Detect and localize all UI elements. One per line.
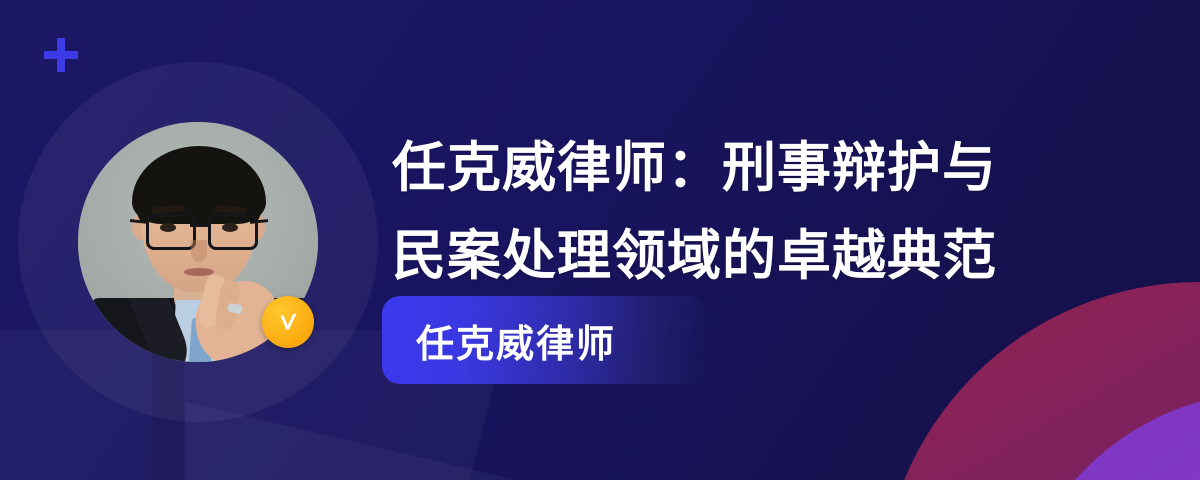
glasses-lens-right bbox=[208, 214, 258, 250]
gradient-orb bbox=[880, 282, 1200, 480]
page-title: 任克威律师：刑事辩护与 民案处理领域的卓越典范 bbox=[392, 124, 1092, 300]
gradient-orb-inner bbox=[1010, 392, 1200, 480]
plus-icon bbox=[44, 38, 78, 72]
lawyer-name-button[interactable]: 任克威律师 bbox=[382, 296, 706, 384]
verified-badge-icon bbox=[262, 296, 314, 348]
decor-triangle bbox=[185, 402, 525, 480]
portrait-nose bbox=[191, 240, 207, 262]
decor-vertical-band bbox=[152, 352, 184, 480]
glasses-bridge bbox=[190, 224, 208, 227]
promo-banner: 任克威律师：刑事辩护与 民案处理领域的卓越典范 任克威律师 bbox=[0, 0, 1200, 480]
glasses-lens-left bbox=[146, 214, 196, 250]
plus-icon-bar-vertical bbox=[57, 38, 65, 72]
